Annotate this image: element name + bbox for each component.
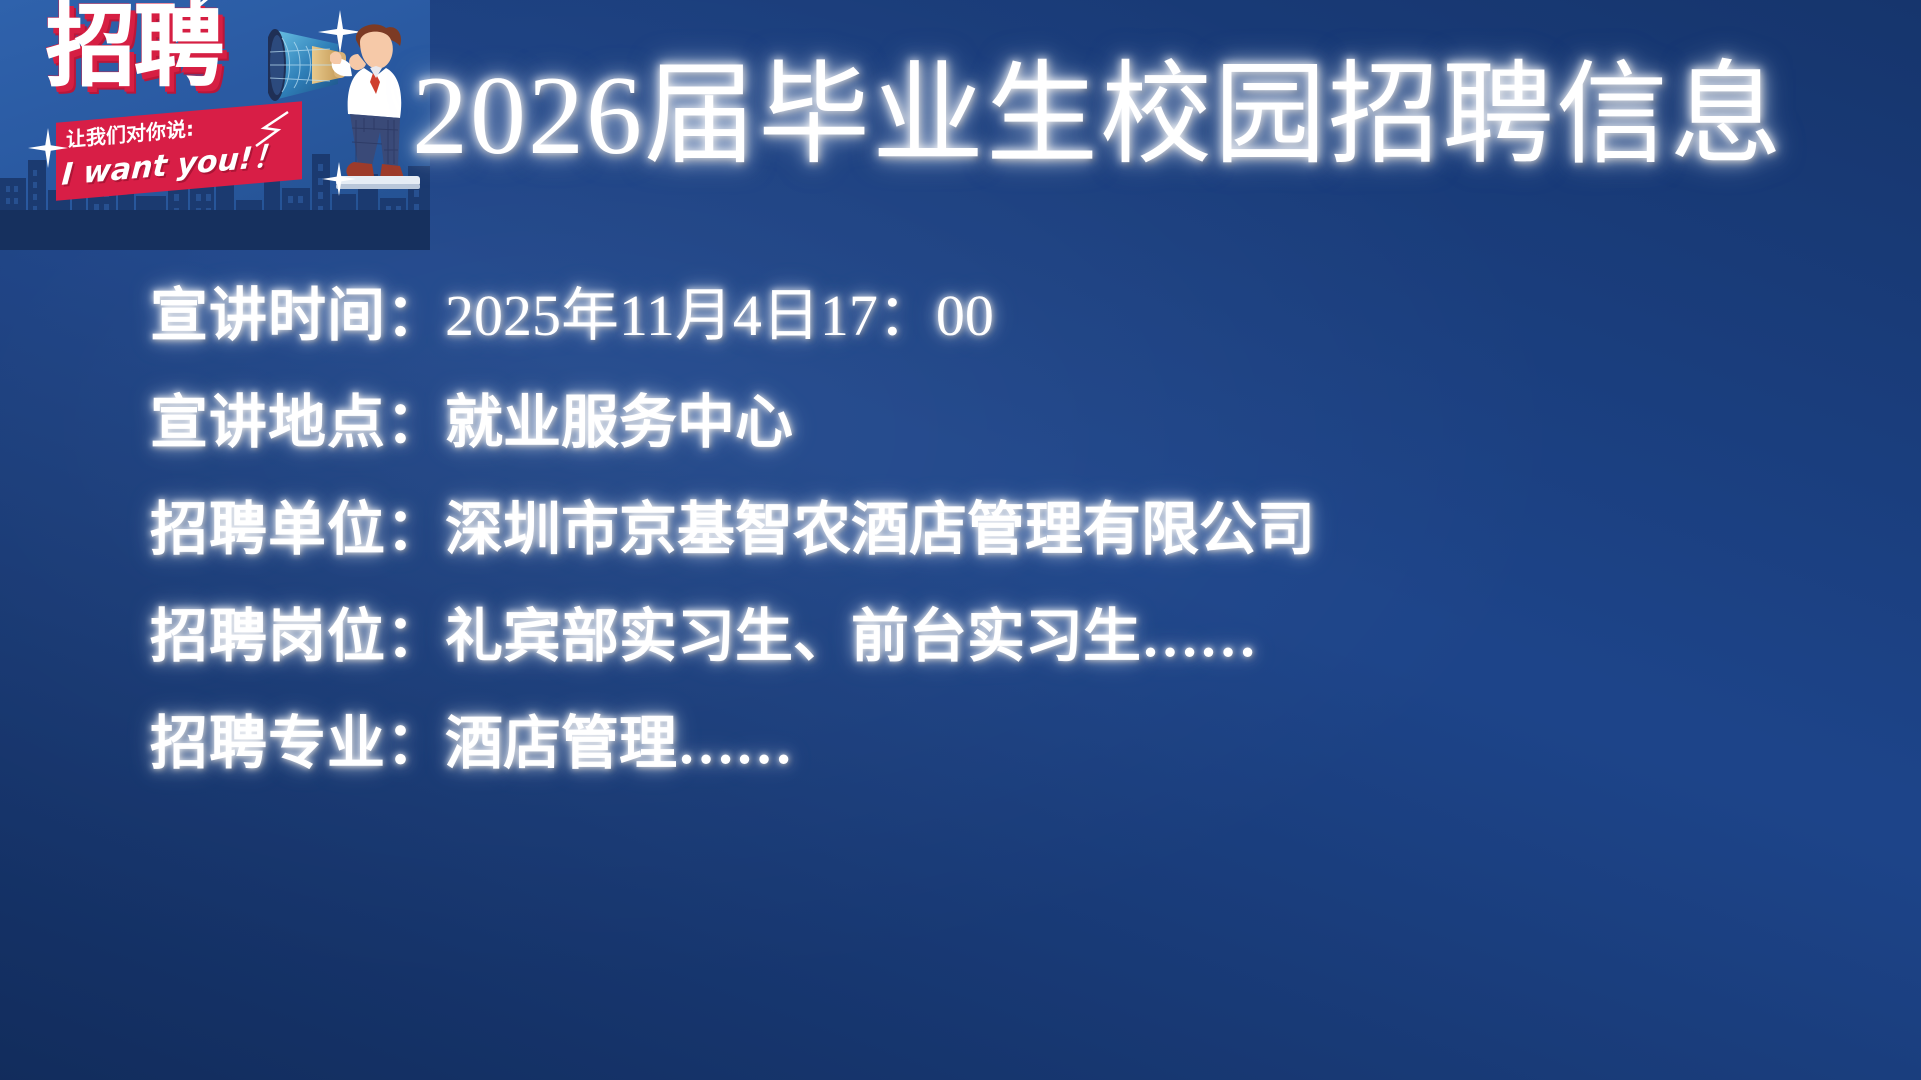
banner-ground	[0, 210, 430, 250]
info-line-positions: 招聘岗位：礼宾部实习生、前台实习生……	[150, 583, 1650, 690]
info-label-positions: 招聘岗位：	[150, 604, 445, 669]
info-line-company: 招聘单位：深圳市京基智农酒店管理有限公司	[150, 476, 1650, 583]
info-line-majors: 招聘专业：酒店管理……	[150, 690, 1650, 797]
info-value-positions: 礼宾部实习生、前台实习生……	[445, 604, 1257, 669]
recruitment-banner-graphic: 招聘 让我们对你说: I want you!！	[0, 0, 430, 250]
recruitment-poster: 招聘 让我们对你说: I want you!！ 2026届毕业生校园招聘信息 宣…	[0, 0, 1921, 1080]
info-value-majors: 酒店管理……	[445, 711, 793, 776]
info-value-speech-place: 就业服务中心	[445, 390, 793, 455]
info-label-majors: 招聘专业：	[150, 711, 445, 776]
info-label-speech-time: 宣讲时间：	[150, 283, 445, 348]
banner-headline-wrap: 招聘	[46, 2, 222, 92]
lightning-icon-2	[222, 108, 312, 148]
page-title: 2026届毕业生校园招聘信息	[412, 56, 1784, 177]
info-line-speech-place: 宣讲地点：就业服务中心	[150, 369, 1650, 476]
info-value-speech-time: 2025年11月4日17：00	[445, 283, 994, 348]
info-line-speech-time: 宣讲时间：2025年11月4日17：00	[150, 262, 1650, 369]
info-value-company: 深圳市京基智农酒店管理有限公司	[445, 497, 1315, 562]
info-label-company: 招聘单位：	[150, 497, 445, 562]
info-list: 宣讲时间：2025年11月4日17：00 宣讲地点：就业服务中心 招聘单位：深圳…	[150, 262, 1650, 797]
banner-headline: 招聘	[46, 2, 222, 92]
info-label-speech-place: 宣讲地点：	[150, 390, 445, 455]
